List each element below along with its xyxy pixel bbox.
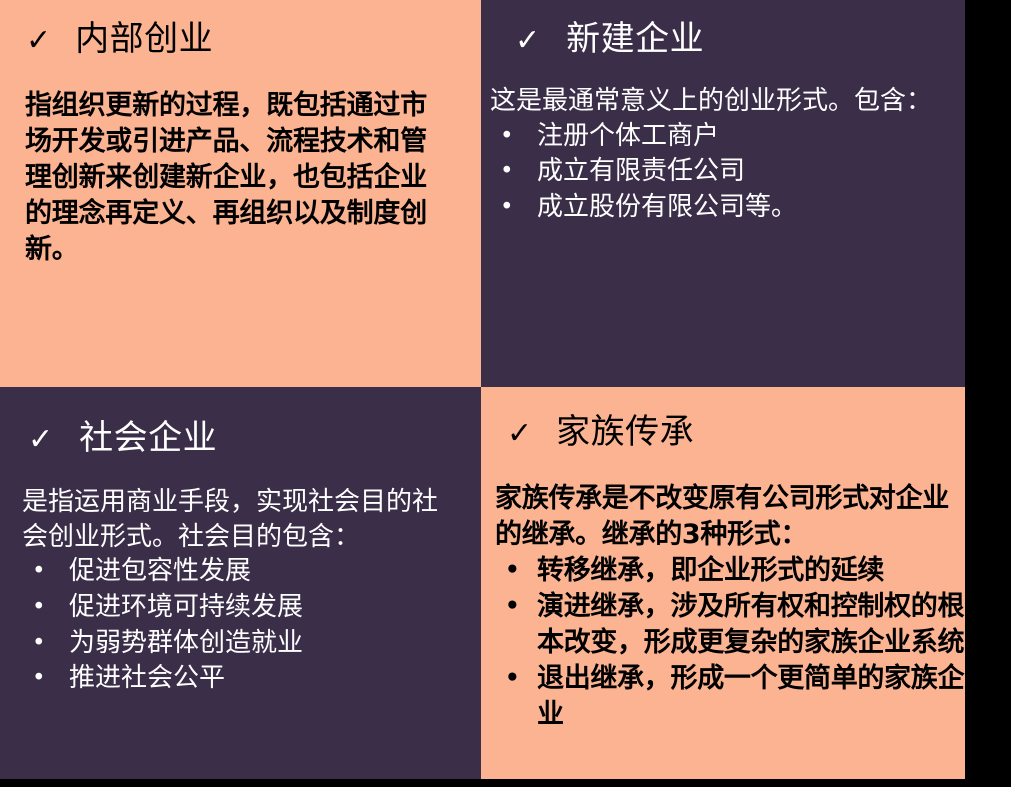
panel-social-enterprise[interactable]: ✓ 社会企业 是指运用商业手段，实现社会目的社会创业形式。社会目的包含： • 促… — [0, 387, 481, 779]
bullet-icon: • — [22, 554, 69, 590]
list-item-label: 促进环境可持续发展 — [69, 590, 481, 625]
bullet-icon: • — [490, 119, 537, 155]
bullet-icon: • — [22, 626, 69, 662]
list-item-label: 促进包容性发展 — [69, 554, 481, 589]
list-item: • 促进包容性发展 — [22, 554, 481, 590]
check-icon: ✓ — [507, 419, 532, 449]
panel-body: 是指运用商业手段，实现社会目的社会创业形式。社会目的包含： • 促进包容性发展 … — [0, 457, 481, 697]
check-icon: ✓ — [26, 26, 51, 56]
bullet-icon: • — [495, 661, 537, 697]
panel-bullet-list: • 注册个体工商户 • 成立有限责任公司 • 成立股份有限公司等。 — [490, 119, 965, 226]
panel-family-succession[interactable]: ✓ 家族传承 家族传承是不改变原有公司形式对企业的继承。继承的3种形式： • 转… — [481, 387, 965, 779]
panel-body: 指组织更新的过程，既包括通过市场开发或引进产品、流程技术和管理创新来创建新企业，… — [0, 58, 465, 268]
list-item: • 转移继承，即企业形式的延续 — [495, 553, 965, 589]
panel-title: 新建企业 — [566, 20, 704, 58]
panel-paragraph: 家族传承是不改变原有公司形式对企业的继承。继承的3种形式： — [495, 481, 955, 553]
panel-paragraph: 指组织更新的过程，既包括通过市场开发或引进产品、流程技术和管理创新来创建新企业，… — [25, 88, 445, 268]
panel-bullet-list: • 促进包容性发展 • 促进环境可持续发展 • 为弱势群体创造就业 • 推进社会… — [22, 554, 481, 697]
panel-title-row: ✓ 内部创业 — [0, 0, 481, 58]
list-item-label: 为弱势群体创造就业 — [69, 626, 481, 661]
right-letterbox — [965, 0, 1011, 787]
list-item-label: 转移继承，即企业形式的延续 — [537, 553, 965, 589]
panel-internal-entrepreneurship[interactable]: ✓ 内部创业 指组织更新的过程，既包括通过市场开发或引进产品、流程技术和管理创新… — [0, 0, 481, 387]
bullet-icon: • — [495, 589, 537, 625]
slide-canvas: ✓ 内部创业 指组织更新的过程，既包括通过市场开发或引进产品、流程技术和管理创新… — [0, 0, 1011, 787]
panel-title: 社会企业 — [79, 419, 217, 457]
check-icon: ✓ — [515, 26, 540, 56]
panel-body: 家族传承是不改变原有公司形式对企业的继承。继承的3种形式： • 转移继承，即企业… — [481, 451, 965, 732]
panel-title-row: ✓ 家族传承 — [481, 387, 965, 451]
list-item-label: 成立有限责任公司 — [537, 154, 965, 189]
panel-title: 家族传承 — [556, 413, 694, 451]
panel-paragraph: 这是最通常意义上的创业形式。包含： — [490, 84, 965, 119]
bullet-icon: • — [495, 553, 537, 589]
list-item-label: 演进继承，涉及所有权和控制权的根本改变，形成更复杂的家族企业系统 — [537, 589, 965, 661]
bottom-letterbox — [0, 779, 1011, 787]
list-item: • 促进环境可持续发展 — [22, 590, 481, 626]
bullet-icon: • — [22, 590, 69, 626]
bullet-icon: • — [22, 661, 69, 697]
list-item-label: 推进社会公平 — [69, 661, 481, 696]
panel-paragraph: 是指运用商业手段，实现社会目的社会创业形式。社会目的包含： — [22, 485, 462, 554]
list-item-label: 成立股份有限公司等。 — [537, 190, 965, 225]
list-item: • 成立有限责任公司 — [490, 154, 965, 190]
list-item: • 演进继承，涉及所有权和控制权的根本改变，形成更复杂的家族企业系统 — [495, 589, 965, 661]
list-item: • 成立股份有限公司等。 — [490, 190, 965, 226]
panel-title: 内部创业 — [75, 20, 213, 58]
bullet-icon: • — [490, 190, 537, 226]
list-item: • 退出继承，形成一个更简单的家族企业 — [495, 661, 965, 733]
list-item-label: 退出继承，形成一个更简单的家族企业 — [537, 661, 965, 733]
panel-body: 这是最通常意义上的创业形式。包含： • 注册个体工商户 • 成立有限责任公司 •… — [481, 58, 965, 226]
list-item: • 推进社会公平 — [22, 661, 481, 697]
panel-bullet-list: • 转移继承，即企业形式的延续 • 演进继承，涉及所有权和控制权的根本改变，形成… — [495, 553, 965, 733]
list-item: • 注册个体工商户 — [490, 119, 965, 155]
bullet-icon: • — [490, 154, 537, 190]
check-icon: ✓ — [28, 425, 53, 455]
list-item-label: 注册个体工商户 — [537, 119, 965, 154]
panel-title-row: ✓ 新建企业 — [481, 0, 965, 58]
panel-title-row: ✓ 社会企业 — [0, 387, 481, 457]
list-item: • 为弱势群体创造就业 — [22, 626, 481, 662]
panel-new-venture[interactable]: ✓ 新建企业 这是最通常意义上的创业形式。包含： • 注册个体工商户 • 成立有… — [481, 0, 965, 387]
